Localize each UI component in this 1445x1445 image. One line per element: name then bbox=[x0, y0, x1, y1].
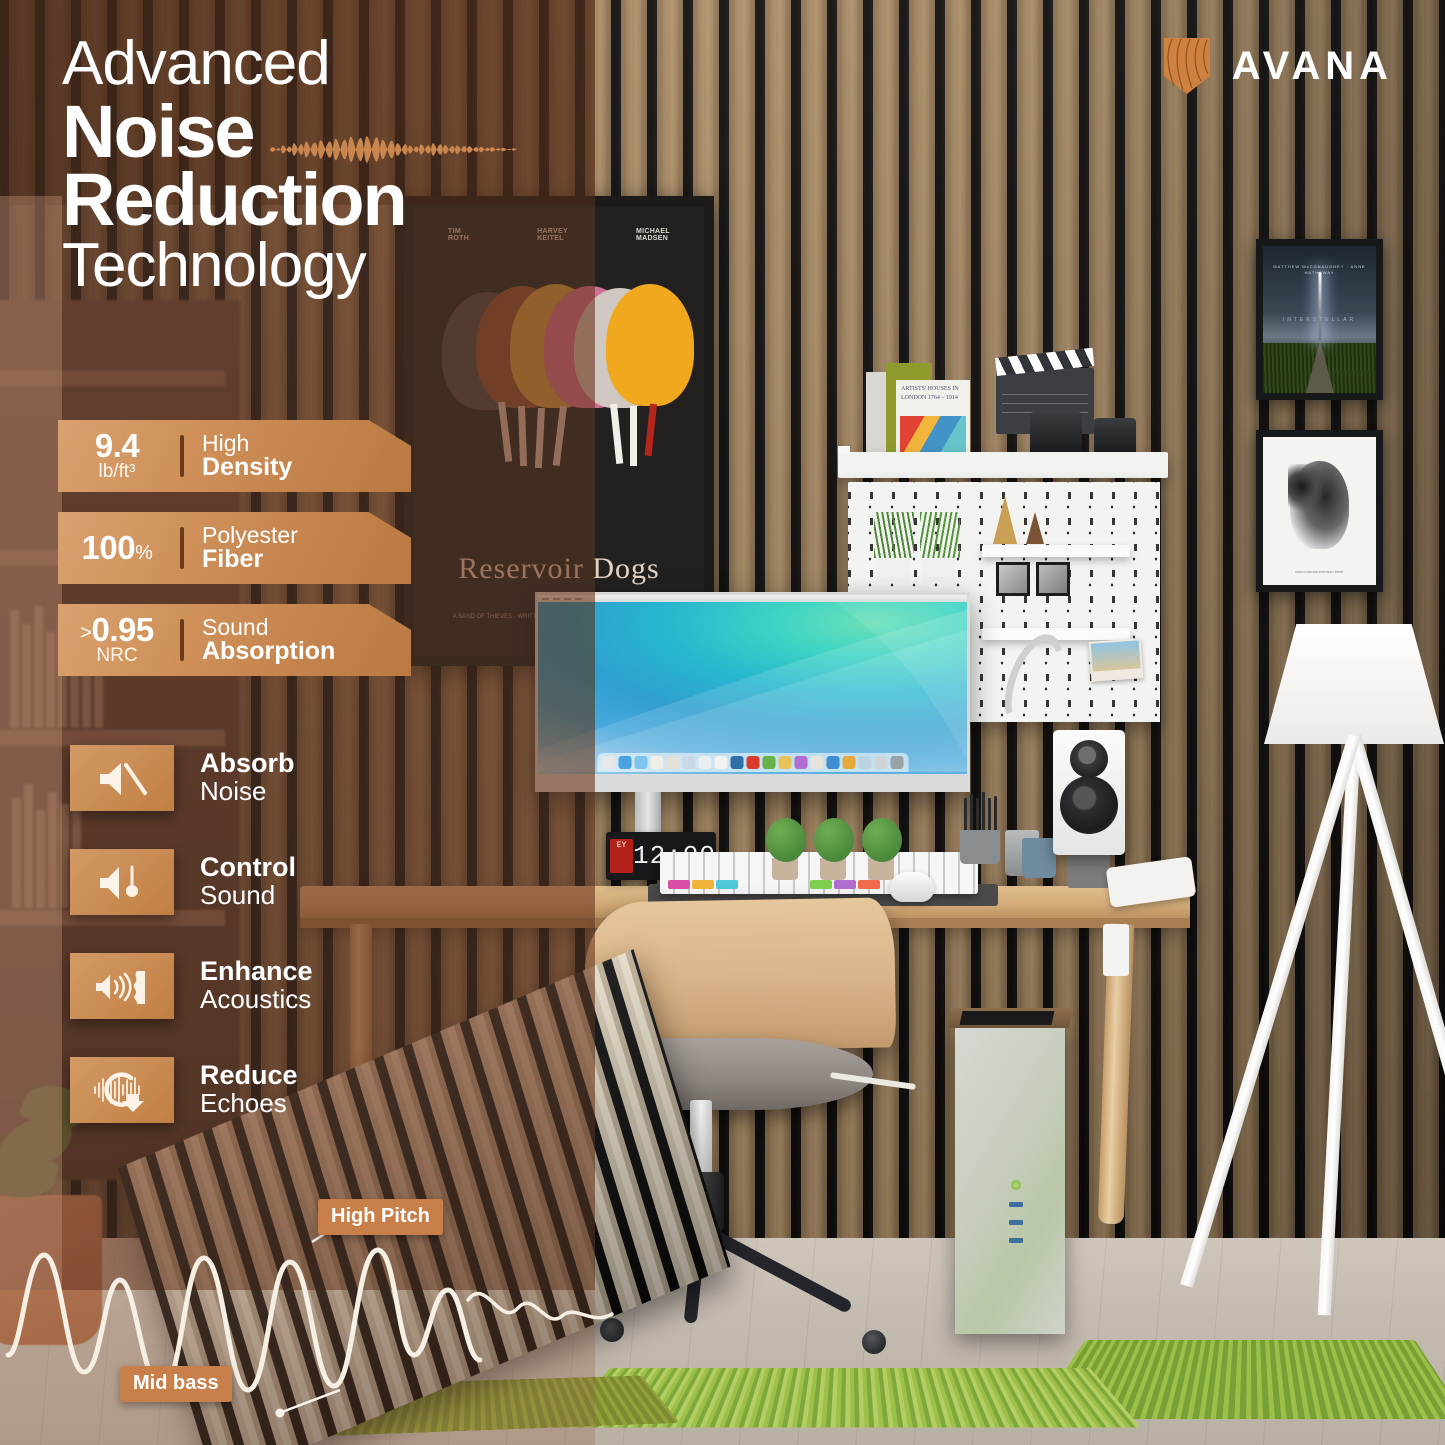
divider bbox=[180, 619, 184, 661]
pegboard-plant-1 bbox=[874, 512, 914, 558]
feature-list: Absorb Noise Control Sound bbox=[70, 742, 313, 1158]
desk-plant-3 bbox=[862, 818, 902, 862]
feature-title: Enhance bbox=[200, 958, 313, 986]
desk-plant-2 bbox=[814, 818, 854, 862]
spec-value: 0.95 bbox=[91, 611, 153, 648]
spec-label-bottom: Fiber bbox=[202, 547, 298, 573]
wave-callouts: High Pitch Mid bass bbox=[0, 1150, 620, 1445]
feature-enhance-acoustics: Enhance Acoustics bbox=[70, 950, 313, 1022]
photo-frame-1 bbox=[996, 562, 1030, 596]
camera-lens-large bbox=[1030, 412, 1082, 456]
poster-title: Reservoir Dogs bbox=[414, 552, 704, 586]
mute-speaker-icon bbox=[70, 745, 174, 811]
speaker-stand bbox=[1068, 852, 1110, 888]
monitor bbox=[535, 592, 970, 792]
pegboard-shelf-1 bbox=[982, 545, 1130, 557]
feature-text: Control Sound bbox=[200, 854, 296, 909]
spec-value-block: 100% bbox=[58, 532, 176, 564]
poster-caption: MONOCHROME PORTRAIT PRINT bbox=[1263, 570, 1376, 575]
spec-badge-absorption: >0.95 NRC Sound Absorption bbox=[58, 604, 411, 676]
pc-tower bbox=[955, 1024, 1065, 1334]
photo-frame-2 bbox=[1036, 562, 1070, 596]
spec-label-bottom: Density bbox=[202, 455, 292, 481]
desk-plant-1 bbox=[766, 818, 806, 862]
spec-badge-fiber: 100% Polyester Fiber bbox=[58, 512, 411, 584]
product-infographic: TIMROTHHARVEYKEITELMICHAELMADSEN Reservo… bbox=[0, 0, 1445, 1445]
wall-shelf bbox=[838, 452, 1168, 478]
feature-reduce-echoes: Reduce Echoes bbox=[70, 1054, 313, 1126]
polaroid-photo bbox=[1089, 638, 1144, 682]
spec-label: Sound Absorption bbox=[202, 616, 335, 665]
divider bbox=[180, 527, 184, 569]
callout-mid-bass: Mid bass bbox=[120, 1366, 232, 1402]
poster-portrait: MONOCHROME PORTRAIT PRINT bbox=[1256, 430, 1383, 592]
divider bbox=[180, 435, 184, 477]
feature-text: Enhance Acoustics bbox=[200, 958, 313, 1013]
mouse bbox=[890, 872, 934, 902]
audio-waveform-icon bbox=[268, 103, 518, 195]
feature-title: Reduce bbox=[200, 1062, 298, 1090]
spec-label-top: Sound bbox=[202, 616, 335, 639]
spec-label: High Density bbox=[202, 432, 292, 481]
dock[interactable] bbox=[597, 753, 908, 772]
feature-absorb-noise: Absorb Noise bbox=[70, 742, 313, 814]
feature-text: Absorb Noise bbox=[200, 750, 295, 805]
spec-badge-density: 9.4 lb/ft³ High Density bbox=[58, 420, 411, 492]
wallpaper-wave bbox=[538, 602, 967, 772]
shelf-book-london: ARTISTS' HOUSES IN LONDON 1764 – 1914 bbox=[896, 380, 970, 458]
spec-label-bottom: Absorption bbox=[202, 639, 335, 665]
spec-value-block: >0.95 NRC bbox=[58, 614, 176, 666]
callout-high-pitch: High Pitch bbox=[318, 1199, 443, 1235]
feature-subtitle: Noise bbox=[200, 778, 295, 806]
clock-date: EY bbox=[610, 839, 633, 873]
camera-lens-small bbox=[1094, 418, 1136, 456]
spec-badges: 9.4 lb/ft³ High Density 100% Polyester F… bbox=[58, 420, 411, 696]
spec-value-block: 9.4 lb/ft³ bbox=[58, 430, 176, 482]
chair-caster-2 bbox=[862, 1330, 886, 1354]
feature-title: Control bbox=[200, 854, 296, 882]
book-title: ARTISTS' HOUSES IN LONDON 1764 – 1914 bbox=[901, 386, 959, 401]
desk-cup-blue bbox=[1022, 838, 1056, 878]
spec-unit: NRC bbox=[58, 646, 176, 666]
poster-interstellar: MATTHEW McCONAUGHEY · ANNE HATHAWAY INTE… bbox=[1256, 239, 1383, 400]
wood-shield-logo-icon bbox=[1160, 36, 1214, 96]
feature-control-sound: Control Sound bbox=[70, 846, 313, 918]
brand-name: AVANA bbox=[1232, 44, 1393, 89]
spec-unit: lb/ft³ bbox=[58, 462, 176, 482]
spec-label-top: Polyester bbox=[202, 524, 298, 547]
poster-cast: MATTHEW McCONAUGHEY · ANNE HATHAWAY bbox=[1263, 264, 1376, 277]
wood-cone-large bbox=[993, 496, 1017, 544]
monitor-screen bbox=[538, 602, 967, 774]
spec-label-top: High bbox=[202, 432, 292, 455]
speaker-waves-panel-icon bbox=[70, 953, 174, 1019]
menu-bar bbox=[538, 595, 967, 602]
feature-title: Absorb bbox=[200, 750, 295, 778]
spec-suffix: % bbox=[135, 542, 152, 564]
poster-title: INTERSTELLAR bbox=[1263, 317, 1376, 323]
wood-cone-small bbox=[1026, 512, 1044, 544]
headline-line-4: Technology bbox=[62, 236, 622, 296]
headline-line-1: Advanced bbox=[62, 34, 622, 94]
bookshelf-speaker bbox=[1053, 730, 1125, 855]
speaker-slider-icon bbox=[70, 849, 174, 915]
pegboard-plant-2 bbox=[920, 512, 960, 558]
feature-subtitle: Sound bbox=[200, 882, 296, 910]
spec-value: 100 bbox=[82, 529, 136, 566]
spec-prefix: > bbox=[80, 622, 91, 644]
brand-logo: AVANA bbox=[1160, 36, 1393, 96]
feature-text: Reduce Echoes bbox=[200, 1062, 298, 1117]
feature-subtitle: Acoustics bbox=[200, 986, 313, 1014]
feature-subtitle: Echoes bbox=[200, 1090, 298, 1118]
sound-wave-illustration bbox=[0, 1150, 620, 1445]
spec-label: Polyester Fiber bbox=[202, 524, 298, 573]
spec-value: 9.4 bbox=[95, 427, 139, 464]
desk-leg-collar bbox=[1103, 924, 1129, 976]
echo-reduce-loop-icon bbox=[70, 1057, 174, 1123]
